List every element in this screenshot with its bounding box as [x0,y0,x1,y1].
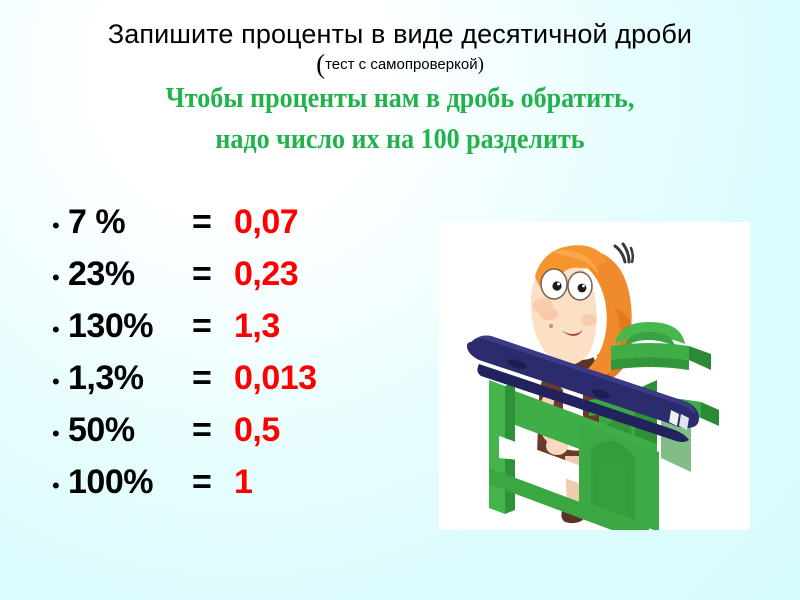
percent-value: 130% [68,307,192,346]
decimal-answer: 0,5 [234,411,280,450]
percent-value: 100% [68,463,192,502]
equals-sign: = [192,255,234,294]
equals-sign: = [192,463,234,502]
percent-list: • 7 % = 0,07 • 23% = 0,23 • 130% = 1,3 •… [52,200,412,512]
decimal-answer: 0,07 [234,203,298,242]
page-title: Запишите проценты в виде десятичной дроб… [0,18,800,50]
decimal-answer: 1 [234,463,252,502]
equals-sign: = [192,307,234,346]
slide-canvas: Запишите проценты в виде десятичной дроб… [0,0,800,600]
heading-block: Запишите проценты в виде десятичной дроб… [0,18,800,157]
bullet-icon: • [52,304,68,356]
decimal-answer: 1,3 [234,307,280,346]
subtitle-open-paren: ( [316,49,325,79]
percent-value: 23% [68,255,192,294]
subtitle-row: (тест с самопроверкой) [0,54,800,75]
list-item: • 23% = 0,23 [52,252,412,304]
bullet-icon: • [52,460,68,512]
decimal-answer: 0,013 [234,359,317,398]
decimal-answer: 0,23 [234,255,298,294]
list-item: • 130% = 1,3 [52,304,412,356]
list-item: • 1,3% = 0,013 [52,356,412,408]
list-item: • 100% = 1 [52,460,412,512]
subtitle-close-paren: ) [478,54,484,75]
percent-value: 1,3% [68,359,192,398]
bullet-icon: • [52,200,68,252]
percent-value: 50% [68,411,192,450]
bullet-icon: • [52,252,68,304]
list-item: • 7 % = 0,07 [52,200,412,252]
rhyme-line-2: надо число их на 100 разделить [28,123,772,157]
schoolgirl-at-desk-image [439,222,750,530]
bullet-icon: • [52,408,68,460]
percent-value: 7 % [68,203,192,242]
rhyme-line-1: Чтобы проценты нам в дробь обратить, [28,82,772,116]
equals-sign: = [192,411,234,450]
equals-sign: = [192,203,234,242]
list-item: • 50% = 0,5 [52,408,412,460]
equals-sign: = [192,359,234,398]
bullet-icon: • [52,356,68,408]
schoolgirl-at-desk-illustration [439,222,750,530]
subtitle-text: тест с самопроверкой [325,56,478,73]
